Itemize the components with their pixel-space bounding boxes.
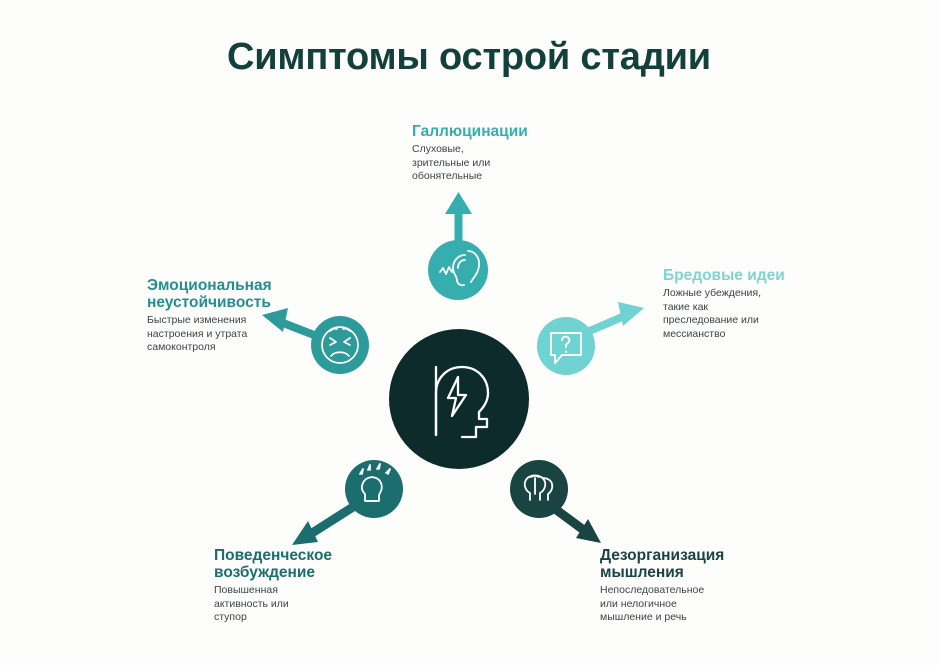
heading-behavioral: Поведенческое возбуждение [214,547,394,581]
label-delusions: Бредовые идеи Ложные убеждения, такие ка… [663,267,833,341]
ear-with-sound-waves-icon [440,251,479,285]
node-hallucinations[interactable] [428,240,488,300]
label-thinking: Дезорганизация мышления Непоследовательн… [600,547,790,625]
overlapping-heads-icon [525,476,553,500]
speech-bubble-question-mark-icon [551,333,581,363]
node-delusions[interactable] [537,317,595,375]
heading-hallucinations: Галлюцинации [412,123,602,140]
arrow-delusions [566,302,644,341]
infographic-canvas: Симптомы острой стадии [0,0,938,665]
description-delusions: Ложные убеждения, такие как преследовани… [663,287,833,341]
arrow-thinking [543,500,601,543]
label-behavioral: Поведенческое возбуждение Повышенная акт… [214,547,394,625]
description-hallucinations: Слуховые, зрительные или обонятельные [412,143,602,184]
description-behavioral: Повышенная активность или ступор [214,584,394,625]
heading-delusions: Бредовые идеи [663,267,833,284]
description-thinking: Непоследовательное или нелогичное мышлен… [600,584,790,625]
arrow-hallucinations [445,192,472,280]
node-behavioral[interactable] [345,460,403,518]
label-emotional: Эмоциональная неустойчивость Быстрые изм… [147,277,297,355]
center-node[interactable] [389,329,529,469]
heading-emotional: Эмоциональная неустойчивость [147,277,297,311]
agitated-head-icon [360,464,390,501]
description-emotional: Быстрые изменения настроения и утрата са… [147,314,297,355]
node-thinking[interactable] [510,460,568,518]
label-hallucinations: Галлюцинации Слуховые, зрительные или об… [412,123,602,184]
sad-distressed-face-icon [322,327,358,363]
page-title: Симптомы острой стадии [0,36,938,79]
node-emotional[interactable] [311,316,369,374]
arrow-behavioral [292,500,364,545]
head-with-lightning-bolt-icon [436,367,488,437]
heading-thinking: Дезорганизация мышления [600,547,790,581]
